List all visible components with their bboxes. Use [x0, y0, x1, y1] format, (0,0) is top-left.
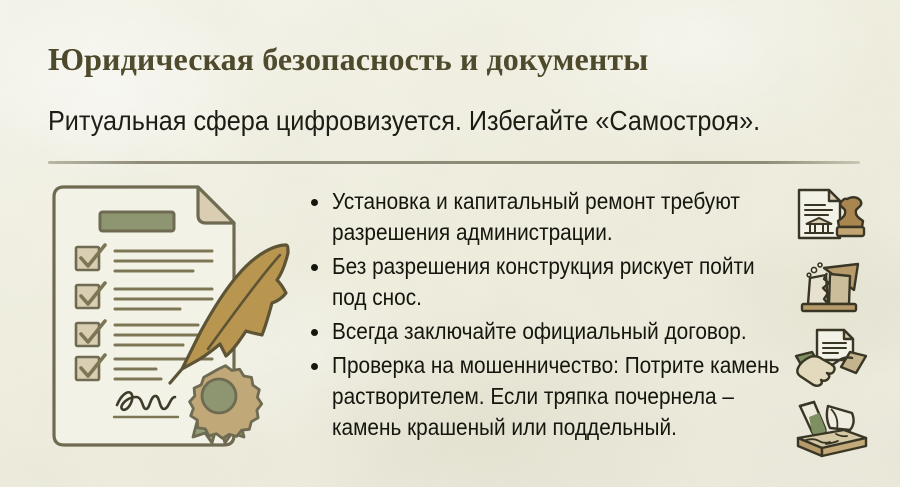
- test-tube-glyph: [800, 402, 826, 437]
- list-item-text: Установка и капитальный ремонт требуют р…: [332, 186, 794, 248]
- document-title-bar: [100, 212, 174, 231]
- permit-document-with-stamp-icon: [792, 184, 870, 246]
- signed-contract-illustration: [48, 183, 296, 455]
- side-icon-slot: [792, 400, 880, 466]
- list-item: Всегда заключайте официальный договор.: [306, 316, 794, 347]
- side-icon-slot: [792, 184, 880, 250]
- wall-right: [829, 274, 850, 304]
- list-item: Установка и капитальный ремонт требуют р…: [306, 186, 794, 248]
- solvent-test-on-stone-icon: [792, 400, 870, 462]
- seal-center: [202, 379, 236, 413]
- slide-canvas: Юридическая безопасность и документы Рит…: [0, 0, 900, 487]
- side-icon-slot: [792, 326, 880, 392]
- list-item: Проверка на мошенничество: Потрите камен…: [306, 350, 794, 443]
- side-icon-column: [792, 184, 880, 470]
- header-divider: [48, 161, 860, 164]
- contract-handshake-icon: [792, 326, 870, 388]
- page-subtitle: Ритуальная сфера цифровизуется. Избегайт…: [48, 104, 795, 138]
- side-icon-slot: [792, 256, 880, 322]
- ground-base: [802, 304, 856, 311]
- demolished-house-icon: [792, 256, 870, 318]
- list-item: Без разрешения конструкция рискует пойти…: [306, 251, 794, 313]
- folded-corner: [198, 187, 234, 223]
- list-item-text: Без разрешения конструкция рискует пойти…: [332, 251, 794, 313]
- page-title: Юридическая безопасность и документы: [48, 40, 868, 78]
- debris-dust: [807, 263, 822, 277]
- bullet-list: Установка и капитальный ремонт требуют р…: [306, 186, 794, 446]
- list-item-text: Всегда заключайте официальный договор.: [332, 316, 794, 347]
- list-item-text: Проверка на мошенничество: Потрите камен…: [332, 350, 794, 443]
